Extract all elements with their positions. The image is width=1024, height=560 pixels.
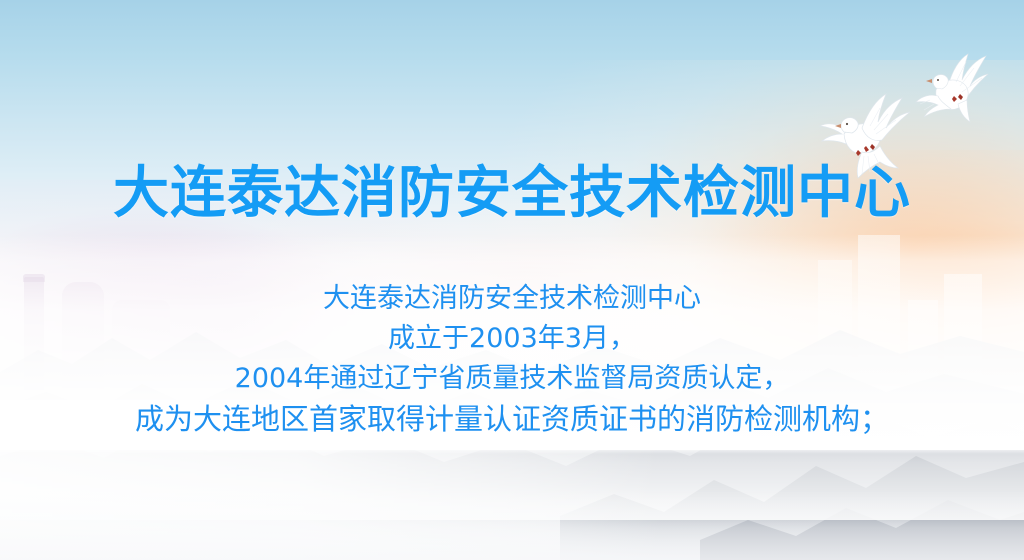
description-line: 2004年通过辽宁省质量技术监督局资质认定， (0, 359, 1024, 399)
description-line: 成为大连地区首家取得计量认证资质证书的消防检测机构； (0, 399, 1024, 439)
description-line: 成立于2003年3月， (0, 319, 1024, 359)
description-line: 大连泰达消防安全技术检测中心 (0, 279, 1024, 319)
page-title: 大连泰达消防安全技术检测中心 (0, 163, 1024, 226)
hero-banner: 大连泰达消防安全技术检测中心 大连泰达消防安全技术检测中心 成立于2003年3月… (0, 0, 1024, 560)
banner-description: 大连泰达消防安全技术检测中心 成立于2003年3月， 2004年通过辽宁省质量技… (0, 279, 1024, 439)
banner-content: 大连泰达消防安全技术检测中心 大连泰达消防安全技术检测中心 成立于2003年3月… (0, 0, 1024, 560)
